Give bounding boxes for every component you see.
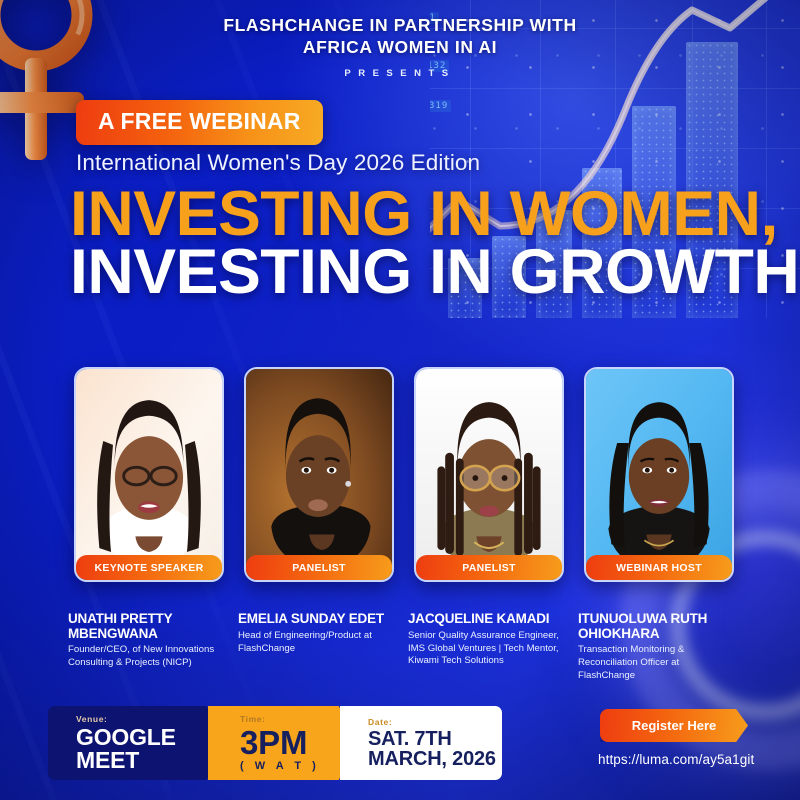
chart-number-tag: 319 xyxy=(430,100,451,112)
venue-value-line-2: MEET xyxy=(76,749,230,772)
speaker-info: JACQUELINE KAMADI Senior Quality Assuran… xyxy=(408,612,566,683)
speaker-card: WEBINAR HOST xyxy=(584,367,734,582)
speaker-title: Founder/CEO, of New Innovations Consulti… xyxy=(68,644,226,670)
free-webinar-badge: A FREE WEBINAR xyxy=(76,100,323,145)
speaker-role-badge: WEBINAR HOST xyxy=(586,555,732,580)
registration-url[interactable]: https://luma.com/ay5a1git xyxy=(598,752,754,767)
time-panel: Time: 3PM ( W A T ) xyxy=(208,706,360,780)
date-panel: Date: SAT. 7TH MARCH, 2026 xyxy=(340,706,502,780)
event-details-footer: Venue: GOOGLE MEET Time: 3PM ( W A T ) D… xyxy=(48,706,502,780)
header-block: FLASHCHANGE IN PARTNERSHIP WITH AFRICA W… xyxy=(0,14,800,79)
partnership-line-1: FLASHCHANGE IN PARTNERSHIP WITH xyxy=(0,14,800,36)
speaker-title: Head of Engineering/Product at FlashChan… xyxy=(238,630,396,656)
speaker-info-list: UNATHI PRETTY MBENGWANA Founder/CEO, of … xyxy=(68,612,748,683)
speaker-card-list: KEYNOTE SPEAKER PANELIST xyxy=(74,367,734,582)
speaker-card: PANELIST xyxy=(414,367,564,582)
speaker-name: ITUNUOLUWA RUTH OHIOKHARA xyxy=(578,612,736,641)
venue-value-line-1: GOOGLE xyxy=(76,726,230,749)
title-line-1: INVESTING IN WOMEN, xyxy=(70,186,799,244)
title-line-2: INVESTING IN GROWTH xyxy=(70,244,799,302)
speaker-photo xyxy=(76,369,222,578)
speaker-name: EMELIA SUNDAY EDET xyxy=(238,612,396,627)
edition-subtitle: International Women's Day 2026 Edition xyxy=(76,150,480,176)
partnership-line-2: AFRICA WOMEN IN AI xyxy=(0,36,800,58)
venue-label: Venue: xyxy=(76,714,230,724)
speaker-title: Senior Quality Assurance Engineer, IMS G… xyxy=(408,630,566,669)
speaker-info: UNATHI PRETTY MBENGWANA Founder/CEO, of … xyxy=(68,612,226,683)
date-value-line-1: SAT. 7TH xyxy=(368,729,502,749)
date-value-line-2: MARCH, 2026 xyxy=(368,749,502,769)
speaker-card: PANELIST xyxy=(244,367,394,582)
speaker-title: Transaction Monitoring & Reconciliation … xyxy=(578,644,736,683)
speaker-photo xyxy=(586,369,732,578)
speaker-photo xyxy=(416,369,562,578)
speaker-info: EMELIA SUNDAY EDET Head of Engineering/P… xyxy=(238,612,396,683)
speaker-role-badge: PANELIST xyxy=(246,555,392,580)
webinar-poster: 11 132 319 FLASHCHANGE IN PARTNERSHIP WI xyxy=(0,0,800,800)
speaker-role-badge: PANELIST xyxy=(416,555,562,580)
venue-panel: Venue: GOOGLE MEET xyxy=(48,706,230,780)
date-label: Date: xyxy=(368,717,502,727)
speaker-role-badge: KEYNOTE SPEAKER xyxy=(76,555,222,580)
page-title: INVESTING IN WOMEN, INVESTING IN GROWTH xyxy=(70,186,785,302)
speaker-name: JACQUELINE KAMADI xyxy=(408,612,566,627)
presents-label: PRESENTS xyxy=(0,68,800,79)
speaker-photo xyxy=(246,369,392,578)
speaker-card: KEYNOTE SPEAKER xyxy=(74,367,224,582)
speaker-name: UNATHI PRETTY MBENGWANA xyxy=(68,612,226,641)
register-button[interactable]: Register Here xyxy=(600,709,748,742)
speaker-info: ITUNUOLUWA RUTH OHIOKHARA Transaction Mo… xyxy=(578,612,736,683)
